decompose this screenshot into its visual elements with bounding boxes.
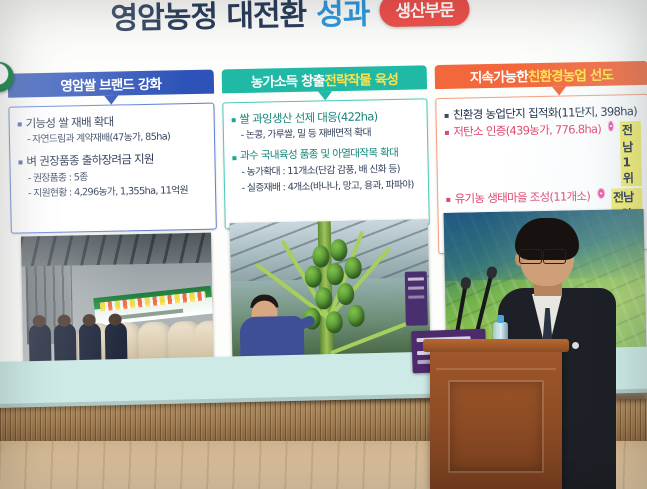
list-subitem: - 권장품종 : 5종	[28, 168, 208, 185]
bullet-icon	[231, 118, 235, 122]
list-item: 벼 권장품종 출하장려금 지원	[18, 151, 207, 170]
list-item: 쌀 과잉생산 선제 대응(422ha)	[231, 108, 420, 127]
bullet-icon	[232, 157, 236, 161]
list-item-label: 유기농 생태마을 조성(11개소)	[455, 189, 591, 207]
rank-badge: 전남 1위	[620, 121, 642, 186]
list-subitem: - 농가확대 : 11개소(단감 감풍, 배 신화 등)	[241, 163, 421, 180]
list-item: 저탄소 인증(439농가, 776.8ha) 전남 1위	[445, 121, 642, 190]
podium	[430, 346, 562, 489]
slide-photo-rice-purchase	[21, 233, 214, 367]
bullet-icon	[445, 114, 449, 118]
list-item-label: 쌀 과잉생산 선제 대응(422ha)	[239, 109, 377, 127]
panel-header-pointer	[318, 91, 332, 100]
papaya-fruit	[347, 305, 364, 327]
list-subitem: - 자연드림과 계약재배(47농가, 85ha)	[27, 130, 207, 147]
panel-header-highlight: 친환경농업 선도	[528, 64, 614, 86]
presentation-scene: 영암농정 대전환 성과 생산부문 영암쌀 브랜드 강화 기능성 쌀 재배 확대 …	[0, 0, 647, 489]
slide-title-row: 영암농정 대전환 성과 생산부문	[110, 0, 470, 38]
list-item-label: 기능성 쌀 재배 확대	[26, 115, 114, 132]
panel-header: 영암쌀 브랜드 강화	[8, 70, 214, 98]
list-item-label: 친환경 농업단지 집적화(11단지, 398ha)	[453, 104, 637, 123]
list-item-label: 벼 권장품종 출하장려금 지원	[26, 152, 154, 170]
status-badge: 생산부문	[379, 0, 470, 27]
lapel-pin-icon	[572, 342, 579, 349]
ceiling-beam	[21, 233, 212, 267]
page-title-accent: 성과	[316, 0, 370, 33]
papaya-fruit	[305, 265, 322, 287]
panel-header-pointer	[104, 95, 118, 104]
list-item: 과수 국내육성 품종 및 아열대작목 확대	[232, 147, 421, 165]
podium-groove	[436, 368, 556, 370]
bullet-icon	[18, 161, 22, 165]
bullet-icon	[447, 198, 451, 202]
list-item: 친환경 농업단지 집적화(11단지, 398ha)	[445, 104, 641, 123]
panel-body: 기능성 쌀 재배 확대 - 자연드림과 계약재배(47농가, 85ha) 벼 권…	[8, 103, 216, 234]
flower-icon	[609, 122, 613, 131]
panel-body: 쌀 과잉생산 선제 대응(422ha) - 논콩, 가루쌀, 밀 등 재배면적 …	[222, 98, 430, 229]
panel-header-highlight: 전략작물 육성	[324, 68, 398, 89]
list-subitem: - 지원현황 : 4,296농가, 1,355ha, 11억원	[28, 183, 208, 200]
bullet-icon	[445, 131, 449, 135]
papaya-fruit	[327, 263, 344, 285]
list-item: 기능성 쌀 재배 확대	[18, 113, 207, 132]
papaya-fruit	[312, 245, 329, 267]
panel-header: 지속가능한 친환경농업 선도	[435, 61, 647, 89]
papaya-fruit	[330, 239, 347, 261]
podium-top	[423, 339, 569, 352]
flower-icon	[598, 189, 604, 198]
slide-photo-papaya	[230, 219, 431, 363]
papaya-fruit	[315, 287, 332, 309]
list-subitem: - 실증재배 : 4개소(바나나, 망고, 용과, 파파야)	[242, 178, 422, 195]
bullet-icon	[18, 122, 22, 126]
panel-header-plain: 농가소득 창출	[251, 69, 325, 90]
list-subitem: - 논콩, 가루쌀, 밀 등 재배면적 확대	[241, 126, 421, 143]
papaya-fruit	[344, 257, 361, 279]
page-title: 영암농정 대전환	[110, 0, 306, 38]
panel-header: 농가소득 창출 전략작물 육성	[221, 65, 427, 93]
podium-panel	[448, 380, 544, 473]
panel-header-plain: 지속가능한	[470, 65, 528, 86]
panel-header-pointer	[552, 87, 566, 96]
greenhouse-sign	[405, 271, 428, 325]
glasses-icon	[519, 249, 573, 262]
list-item-label: 저탄소 인증(439농가, 776.8ha)	[453, 122, 601, 140]
papaya-fruit	[326, 311, 343, 333]
papaya-fruit	[337, 283, 354, 305]
list-item-label: 과수 국내육성 품종 및 아열대작목 확대	[240, 147, 398, 164]
